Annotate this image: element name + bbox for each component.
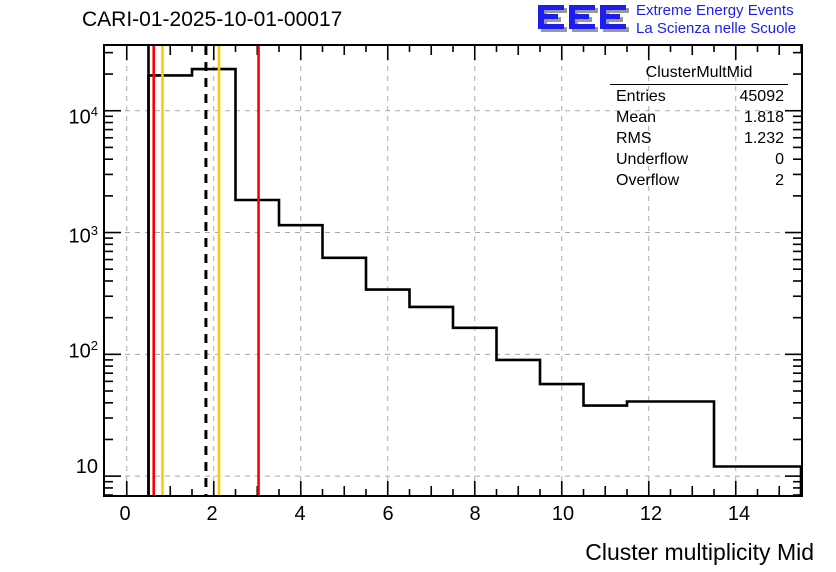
eee-logo-line1: Extreme Energy Events [636, 2, 796, 20]
stats-row-rms: RMS 1.232 [610, 127, 788, 148]
stats-value-overflow: 2 [775, 171, 788, 190]
eee-logo: Extreme Energy Events La Scienza nelle S… [536, 2, 834, 40]
x-ticklabel-4: 4 [280, 503, 320, 526]
histogram-page: CARI-01-2025-10-01-00017 [0, 0, 836, 572]
stats-key-entries: Entries [610, 87, 666, 106]
eee-mark-icon [536, 3, 632, 37]
stats-key-rms: RMS [610, 129, 652, 148]
stats-value-entries: 45092 [740, 87, 789, 106]
x-ticklabel-6: 6 [368, 503, 408, 526]
x-ticklabel-12: 12 [631, 503, 671, 526]
eee-logo-text: Extreme Energy Events La Scienza nelle S… [636, 2, 796, 38]
stats-value-underflow: 0 [775, 150, 788, 169]
stats-row-mean: Mean 1.818 [610, 106, 788, 127]
stats-value-rms: 1.232 [744, 129, 788, 148]
y-ticklabel-100: 102 [20, 338, 98, 364]
stats-row-entries: Entries 45092 [610, 85, 788, 106]
stats-row-overflow: Overflow 2 [610, 169, 788, 190]
x-ticklabel-2: 2 [192, 503, 232, 526]
stats-box: ClusterMultMid Entries 45092 Mean 1.818 … [610, 64, 788, 190]
x-axis-title: Cluster multiplicity Mid [585, 539, 814, 566]
stats-key-underflow: Underflow [610, 150, 688, 169]
stats-row-underflow: Underflow 0 [610, 148, 788, 169]
x-ticklabel-0: 0 [105, 503, 145, 526]
y-ticklabel-10: 10 [20, 456, 98, 479]
y-ticklabel-10000: 104 [20, 104, 98, 130]
x-ticklabel-8: 8 [455, 503, 495, 526]
x-ticklabel-10: 10 [543, 503, 583, 526]
x-ticklabel-14: 14 [719, 503, 759, 526]
y-ticklabel-1000: 103 [20, 223, 98, 249]
stats-key-overflow: Overflow [610, 171, 679, 190]
page-title: CARI-01-2025-10-01-00017 [82, 8, 342, 32]
marker-lines [149, 46, 259, 495]
stats-value-mean: 1.818 [744, 108, 788, 127]
eee-logo-line2: La Scienza nelle Scuole [636, 20, 796, 38]
stats-key-mean: Mean [610, 108, 656, 127]
stats-title: ClusterMultMid [610, 64, 788, 85]
